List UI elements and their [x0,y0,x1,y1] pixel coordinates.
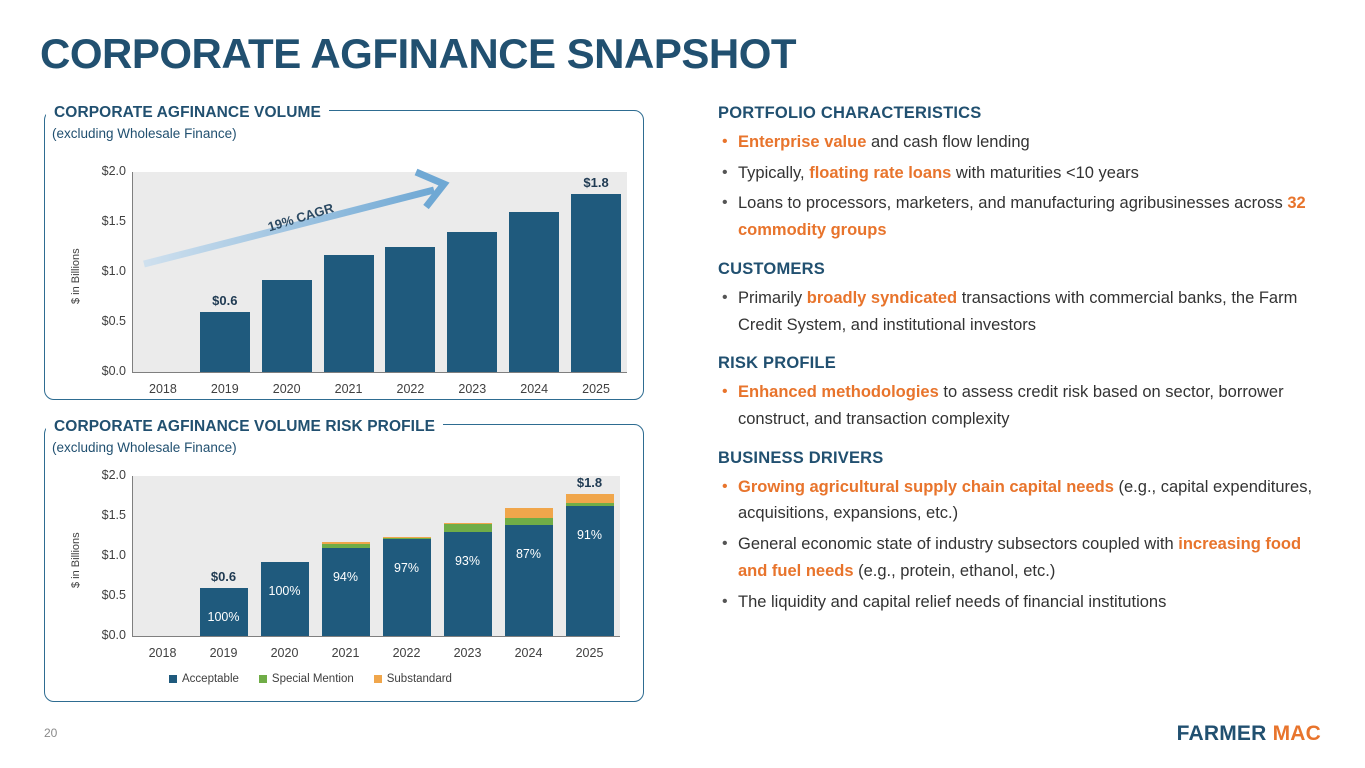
legend-item-acceptable: Acceptable [169,673,239,685]
bullet-list-0: •Enterprise value and cash flow lending•… [718,129,1328,244]
legend-item-special-mention: Special Mention [259,673,354,685]
bullet-item: •The liquidity and capital relief needs … [718,589,1328,616]
x-axis-tick-label: 2019 [194,646,254,660]
bullet-dot-icon: • [722,379,728,405]
stack-segment-2021-substandard [322,542,370,544]
bar-2022 [385,247,435,372]
bar-value-label-2019: $0.6 [190,293,260,308]
y-axis-tick-label: $2.0 [82,468,126,482]
page-title: CORPORATE AGFINANCE SNAPSHOT [40,30,796,78]
logo-primary-text: FARMER [1177,722,1267,745]
percent-label-2022: 97% [377,561,437,575]
section-heading-2: RISK PROFILE [718,354,1328,373]
x-axis-tick-label: 2024 [499,646,559,660]
stack-segment-2024-acceptable [505,525,553,636]
bar-2023 [447,232,497,372]
highlighted-text: increasing food and fuel needs [738,535,1301,580]
bar-2025 [571,194,621,372]
stack-segment-2023-special-mention [444,524,492,532]
bullet-item: •Primarily broadly syndicated transactio… [718,285,1328,338]
bullet-dot-icon: • [722,474,728,500]
legend-label: Acceptable [182,673,239,685]
bullet-list-1: •Primarily broadly syndicated transactio… [718,285,1328,338]
x-axis-tick-label: 2020 [257,382,317,396]
legend-label: Special Mention [272,673,354,685]
bullet-dot-icon: • [722,129,728,155]
y-axis-tick-label: $0.5 [82,314,126,328]
highlighted-text: Enhanced methodologies [738,383,939,401]
percent-label-2023: 93% [438,554,498,568]
x-axis-tick-label: 2025 [560,646,620,660]
bar-value-label-2019: $0.6 [189,569,259,584]
page-number: 20 [44,726,57,740]
bullet-item: •Typically, floating rate loans with mat… [718,160,1328,187]
bullet-item: •Enterprise value and cash flow lending [718,129,1328,156]
bullet-dot-icon: • [722,531,728,557]
stack-segment-2022-special-mention [383,538,431,540]
stack-segment-2021-acceptable [322,548,370,636]
y-axis-tick-label: $1.5 [82,214,126,228]
bar-2019 [200,312,250,372]
legend-item-substandard: Substandard [374,673,452,685]
bar-2021 [324,255,374,372]
x-axis-line [132,636,620,637]
x-axis-tick-label: 2021 [319,382,379,396]
section-heading-1: CUSTOMERS [718,260,1328,279]
bullet-dot-icon: • [722,589,728,615]
y-axis-tick-label: $1.5 [82,508,126,522]
highlighted-text: Enterprise value [738,133,866,151]
stack-segment-2024-substandard [505,508,553,518]
y-axis-tick-label: $2.0 [82,164,126,178]
y-axis-title: $ in Billions [70,248,82,304]
stack-segment-2023-substandard [444,523,492,524]
logo-accent-text: MAC [1273,722,1321,745]
legend-label: Substandard [387,673,452,685]
highlighted-text: Growing agricultural supply chain capita… [738,478,1114,496]
y-axis-tick-label: $1.0 [82,264,126,278]
bullet-list-2: •Enhanced methodologies to assess credit… [718,379,1328,432]
bullet-item: •Enhanced methodologies to assess credit… [718,379,1328,432]
chart-corporate-agfinance-volume: $0.0$0.5$1.0$1.5$2.020182019$0.620202021… [44,110,644,400]
stack-segment-2025-substandard [566,494,614,504]
stack-segment-2022-substandard [383,537,431,538]
y-axis-title: $ in Billions [70,532,82,588]
chart-corporate-agfinance-risk-profile: $0.0$0.5$1.0$1.5$2.020182019100%$0.62020… [44,424,644,702]
bullet-item: •Loans to processors, marketers, and man… [718,190,1328,243]
y-axis-tick-label: $0.5 [82,588,126,602]
highlighted-text: 32 commodity groups [738,194,1306,239]
bar-2024 [509,212,559,372]
bullet-dot-icon: • [722,160,728,186]
stack-segment-2021-special-mention [322,544,370,548]
x-axis-tick-label: 2020 [255,646,315,660]
y-axis-tick-label: $0.0 [82,628,126,642]
bullet-dot-icon: • [722,190,728,216]
x-axis-tick-label: 2023 [438,646,498,660]
x-axis-tick-label: 2024 [504,382,564,396]
bar-value-label-2025: $1.8 [561,175,631,190]
legend-swatch [169,675,177,683]
stack-segment-2023-acceptable [444,532,492,636]
x-axis-tick-label: 2022 [377,646,437,660]
x-axis-tick-label: 2022 [380,382,440,396]
x-axis-line [132,372,627,373]
x-axis-tick-label: 2018 [133,382,193,396]
bar-2020 [262,280,312,372]
stack-segment-2022-acceptable [383,539,431,636]
x-axis-tick-label: 2018 [133,646,193,660]
bar-value-label-2025: $1.8 [555,475,625,490]
bullet-item: •Growing agricultural supply chain capit… [718,474,1328,527]
company-logo: FARMER MAC [1177,722,1321,746]
y-axis-line [132,172,133,372]
y-axis-line [132,476,133,636]
stack-segment-2025-acceptable [566,506,614,636]
percent-label-2021: 94% [316,570,376,584]
x-axis-tick-label: 2019 [195,382,255,396]
percent-label-2020: 100% [255,584,315,598]
percent-label-2025: 91% [560,528,620,542]
x-axis-tick-label: 2025 [566,382,626,396]
percent-label-2024: 87% [499,547,559,561]
stack-segment-2025-special-mention [566,503,614,506]
percent-label-2019: 100% [194,610,254,624]
x-axis-tick-label: 2021 [316,646,376,660]
stack-segment-2020-acceptable [261,562,309,636]
chart-legend: AcceptableSpecial MentionSubstandard [169,673,452,685]
x-axis-tick-label: 2023 [442,382,502,396]
portfolio-text-column: PORTFOLIO CHARACTERISTICS•Enterprise val… [718,104,1328,619]
section-heading-0: PORTFOLIO CHARACTERISTICS [718,104,1328,123]
y-axis-tick-label: $1.0 [82,548,126,562]
bullet-dot-icon: • [722,285,728,311]
legend-swatch [374,675,382,683]
section-heading-3: BUSINESS DRIVERS [718,449,1328,468]
bullet-list-3: •Growing agricultural supply chain capit… [718,474,1328,616]
y-axis-tick-label: $0.0 [82,364,126,378]
bullet-item: •General economic state of industry subs… [718,531,1328,584]
highlighted-text: floating rate loans [809,164,951,182]
legend-swatch [259,675,267,683]
stack-segment-2024-special-mention [505,518,553,524]
highlighted-text: broadly syndicated [807,289,957,307]
